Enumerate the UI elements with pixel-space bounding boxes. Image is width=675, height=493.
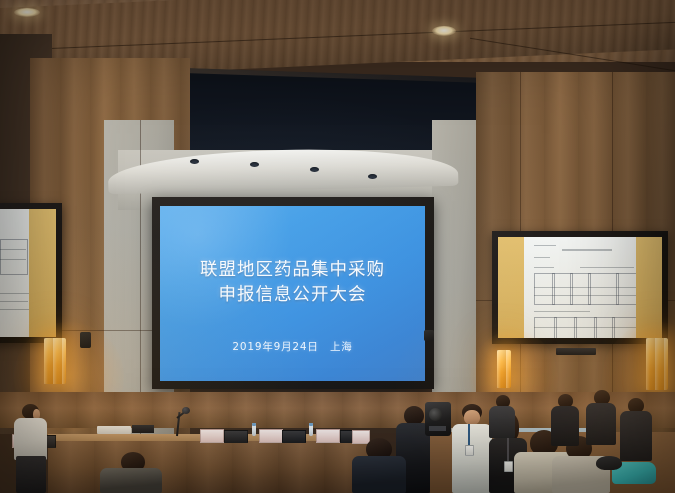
right-monitor-glare-left: [498, 237, 524, 338]
ledge-spotlight-icon: [190, 159, 199, 164]
ceiling-downlight: [14, 8, 40, 17]
lanyard-strap: [468, 424, 470, 446]
video-camera: [425, 402, 451, 436]
desk-equipment: [132, 425, 154, 433]
right-side-monitor[interactable]: [492, 231, 668, 344]
doc-table-col: [570, 273, 573, 305]
water-bottle: [252, 423, 256, 436]
monitor-caption-plate: [556, 348, 596, 355]
badge: [504, 461, 513, 472]
camera-grip: [429, 426, 446, 431]
person-torso: [100, 468, 162, 493]
lanyard-strap: [507, 438, 509, 462]
person-torso: [620, 411, 652, 461]
doc-table-col: [554, 317, 557, 338]
dais-front-panel: [48, 441, 368, 493]
wall-sconce-right: [646, 338, 668, 390]
camera-lens-icon: [429, 408, 442, 421]
person-legs: [16, 456, 46, 493]
left-monitor-screen: [0, 209, 56, 337]
water-bottle: [309, 423, 313, 436]
conference-hall-photo: 联盟地区药品集中采购 申报信息公开大会 2019年9月24日 上海: [0, 0, 675, 493]
doc-table-row: [534, 327, 638, 328]
screen-title: 联盟地区药品集中采购 申报信息公开大会: [160, 258, 425, 309]
laptop-on-dais: [97, 426, 131, 434]
doc-table-col: [612, 317, 615, 338]
wall-sconce-left: [44, 338, 66, 384]
badge: [465, 445, 474, 456]
right-monitor-glare-right: [636, 237, 662, 338]
wall-speaker-icon: [80, 332, 91, 348]
doc-table-1: [534, 273, 640, 305]
person-torso: [551, 406, 579, 446]
name-placard: [200, 429, 224, 443]
doc-table-row: [534, 287, 638, 288]
ledge-spotlight-icon: [368, 174, 377, 179]
doc-line: [534, 245, 556, 246]
ledge-spotlight-icon: [310, 167, 319, 172]
person-torso: [452, 424, 492, 493]
person-torso: [586, 403, 616, 445]
desk-console: [224, 430, 248, 443]
ledge-spotlight-icon: [250, 162, 259, 167]
left-side-monitor[interactable]: [0, 203, 62, 343]
name-placard: [316, 429, 340, 443]
doc-title-line: [562, 249, 612, 251]
doc-line: [534, 311, 590, 312]
doc-table-col: [588, 273, 591, 305]
doc-table: [0, 239, 28, 275]
main-projection-screen: 联盟地区药品集中采购 申报信息公开大会 2019年9月24日 上海: [160, 206, 425, 381]
person-torso: [489, 406, 515, 438]
doc-line: [0, 309, 32, 310]
screen-date-location: 2019年9月24日 上海: [160, 339, 425, 354]
doc-line: [0, 259, 26, 260]
doc-line: [534, 257, 550, 258]
doc-line: [0, 249, 26, 250]
doc-line: [0, 301, 28, 302]
left-monitor-document: [0, 209, 29, 337]
name-placard: [259, 429, 283, 443]
right-monitor-document: [524, 237, 636, 338]
right-monitor-screen: [498, 237, 662, 338]
person-torso: [14, 418, 47, 460]
microphone-head-icon: [182, 407, 190, 414]
doc-line: [0, 293, 32, 294]
black-cap: [596, 456, 622, 470]
screen-title-line1: 联盟地区药品集中采购: [160, 258, 425, 283]
wall-sconce-right-inner: [497, 350, 511, 388]
desk-console: [282, 430, 306, 443]
doc-table-col: [574, 317, 577, 338]
doc-table-col: [594, 317, 597, 338]
main-projection-screen-frame: 联盟地区药品集中采购 申报信息公开大会 2019年9月24日 上海: [152, 197, 434, 389]
doc-table-col: [616, 273, 619, 305]
person-torso: [352, 456, 406, 493]
doc-table-row: [534, 295, 638, 296]
doc-line: [534, 267, 554, 268]
doc-line: [580, 267, 634, 268]
doc-table-col: [552, 273, 555, 305]
wall-speaker-icon: [424, 330, 434, 341]
screen-title-line2: 申报信息公开大会: [160, 283, 425, 308]
person-face: [464, 410, 480, 425]
left-monitor-glare: [29, 209, 56, 337]
ceiling-downlight: [432, 26, 456, 36]
